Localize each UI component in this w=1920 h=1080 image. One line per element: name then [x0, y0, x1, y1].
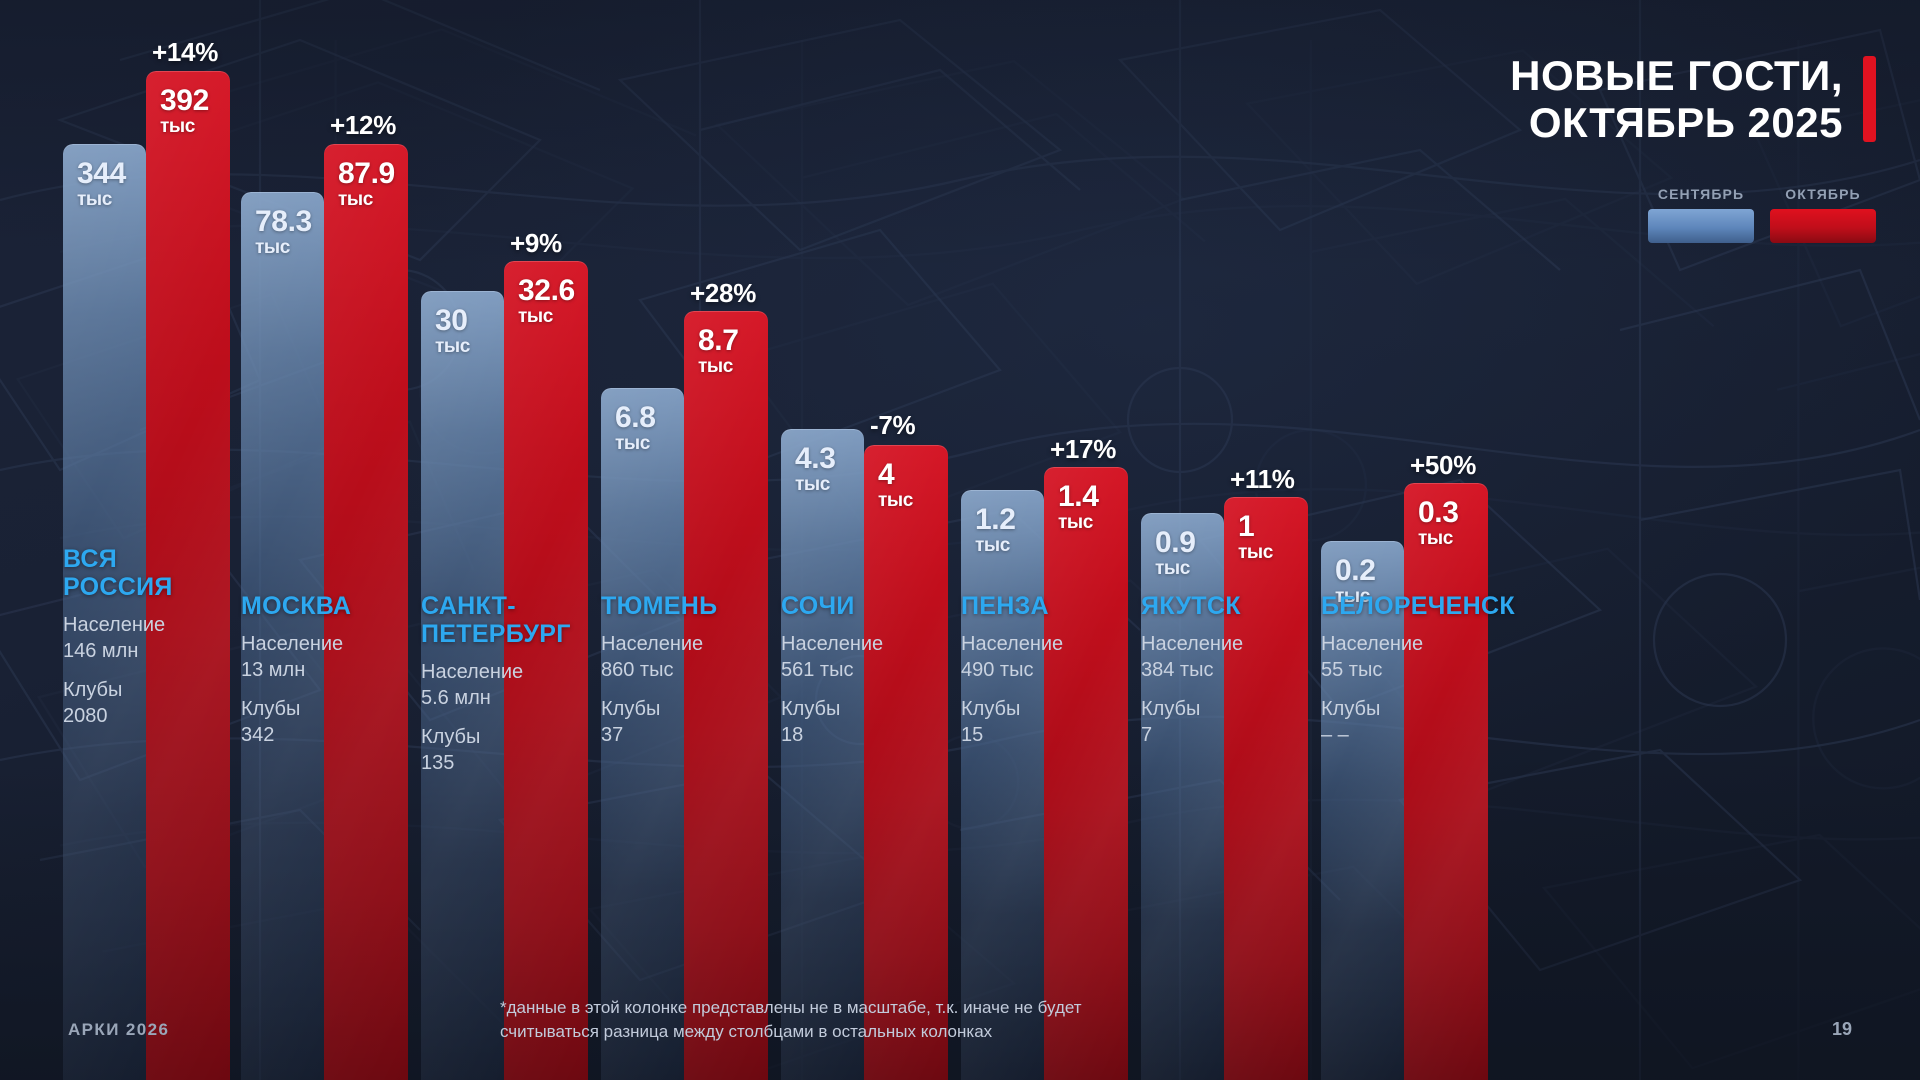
bar-number: 30: [435, 305, 504, 336]
bar-unit: тыс: [338, 190, 408, 210]
column-info-4: СОЧИНаселение 561 тысКлубы 18: [781, 592, 883, 748]
delta-label-4: -7%: [870, 410, 915, 441]
city-label-3: ТЮМЕНЬ: [601, 592, 717, 620]
header: НОВЫЕ ГОСТИ, ОКТЯБРЬ 2025 СЕНТЯБРЬ ОКТЯБ…: [1510, 52, 1876, 243]
delta-label-1: +12%: [330, 110, 396, 141]
bar-unit: тыс: [435, 337, 504, 357]
bar-number: 4.3: [795, 443, 864, 474]
population-info-7: Население 55 тыс: [1321, 632, 1515, 683]
bar-value-october-0: 392тыс: [146, 85, 230, 137]
population-info-1: Население 13 млн: [241, 632, 351, 683]
population-info-2: Население 5.6 млн: [421, 660, 571, 711]
bar-fill: [1044, 467, 1128, 1080]
bar-value-october-2: 32.6тыс: [504, 275, 588, 327]
bar-number: 32.6: [518, 275, 588, 306]
bar-unit: тыс: [1418, 529, 1488, 549]
clubs-info-1: Клубы 342: [241, 697, 351, 748]
bar-value-september-0: 344тыс: [63, 158, 146, 210]
bar-value-september-3: 6.8тыс: [601, 402, 684, 454]
bar-unit: тыс: [77, 190, 146, 210]
bar-number: 0.9: [1155, 527, 1224, 558]
population-info-6: Население 384 тыс: [1141, 632, 1243, 683]
bar-unit: тыс: [878, 491, 948, 511]
column-info-2: САНКТ- ПЕТЕРБУРГНаселение 5.6 млнКлубы 1…: [421, 592, 571, 776]
page-number: 19: [1832, 1019, 1852, 1040]
bar-october-5: 1.4тыс: [1044, 467, 1128, 1080]
bar-number: 344: [77, 158, 146, 189]
population-info-5: Население 490 тыс: [961, 632, 1063, 683]
bar-value-october-5: 1.4тыс: [1044, 481, 1128, 533]
column-info-1: МОСКВАНаселение 13 млнКлубы 342: [241, 592, 351, 748]
bar-value-october-3: 8.7тыс: [684, 325, 768, 377]
title-accent-bar: [1863, 56, 1876, 142]
clubs-info-0: Клубы 2080: [63, 678, 173, 729]
bar-september-4: 4.3тыс: [781, 429, 864, 1080]
page-title: НОВЫЕ ГОСТИ, ОКТЯБРЬ 2025: [1510, 52, 1843, 146]
legend-item-october: ОКТЯБРЬ: [1770, 186, 1876, 243]
bar-number: 4: [878, 459, 948, 490]
column-info-3: ТЮМЕНЬНаселение 860 тысКлубы 37: [601, 592, 717, 748]
clubs-info-5: Клубы 15: [961, 697, 1063, 748]
delta-label-0: +14%: [152, 37, 218, 68]
bar-unit: тыс: [1238, 543, 1308, 563]
bar-value-september-1: 78.3тыс: [241, 206, 324, 258]
clubs-info-2: Клубы 135: [421, 725, 571, 776]
delta-label-5: +17%: [1050, 434, 1116, 465]
bar-number: 1.2: [975, 504, 1044, 535]
legend-swatch-september: [1648, 209, 1754, 243]
bar-number: 1.4: [1058, 481, 1128, 512]
bar-value-october-4: 4тыс: [864, 459, 948, 511]
delta-label-7: +50%: [1410, 450, 1476, 481]
bar-value-october-1: 87.9тыс: [324, 158, 408, 210]
city-label-4: СОЧИ: [781, 592, 883, 620]
bar-number: 0.2: [1335, 555, 1404, 586]
bar-value-october-6: 1тыс: [1224, 511, 1308, 563]
bar-value-september-6: 0.9тыс: [1141, 527, 1224, 579]
bar-september-5: 1.2тыс: [961, 490, 1044, 1080]
legend-label-september: СЕНТЯБРЬ: [1648, 186, 1754, 202]
column-info-7: БЕЛОРЕЧЕНСКНаселение 55 тысКлубы – –: [1321, 592, 1515, 748]
bar-number: 0.3: [1418, 497, 1488, 528]
city-label-0: ВСЯ РОССИЯ: [63, 545, 173, 601]
population-info-3: Население 860 тыс: [601, 632, 717, 683]
legend-item-september: СЕНТЯБРЬ: [1648, 186, 1754, 243]
clubs-info-6: Клубы 7: [1141, 697, 1243, 748]
city-label-5: ПЕНЗА: [961, 592, 1063, 620]
bar-fill: [864, 445, 948, 1080]
legend-label-october: ОКТЯБРЬ: [1770, 186, 1876, 202]
bar-value-september-4: 4.3тыс: [781, 443, 864, 495]
bar-value-september-2: 30тыс: [421, 305, 504, 357]
column-info-0: ВСЯ РОССИЯНаселение 146 млнКлубы 2080: [63, 545, 173, 729]
city-label-6: ЯКУТСК: [1141, 592, 1243, 620]
population-info-0: Население 146 млн: [63, 613, 173, 664]
bar-unit: тыс: [975, 536, 1044, 556]
clubs-info-4: Клубы 18: [781, 697, 883, 748]
bar-value-october-7: 0.3тыс: [1404, 497, 1488, 549]
bar-number: 6.8: [615, 402, 684, 433]
bar-unit: тыс: [615, 434, 684, 454]
bar-fill: [961, 490, 1044, 1080]
bar-fill: [1404, 483, 1488, 1080]
bar-unit: тыс: [160, 117, 230, 137]
bar-unit: тыс: [1155, 559, 1224, 579]
delta-label-3: +28%: [690, 278, 756, 309]
bar-value-september-5: 1.2тыс: [961, 504, 1044, 556]
bar-unit: тыс: [698, 357, 768, 377]
chart-legend: СЕНТЯБРЬ ОКТЯБРЬ: [1510, 186, 1876, 243]
bar-unit: тыс: [1058, 513, 1128, 533]
column-info-5: ПЕНЗАНаселение 490 тысКлубы 15: [961, 592, 1063, 748]
city-label-2: САНКТ- ПЕТЕРБУРГ: [421, 592, 571, 648]
city-label-7: БЕЛОРЕЧЕНСК: [1321, 592, 1515, 620]
delta-label-6: +11%: [1230, 464, 1295, 495]
bar-number: 1: [1238, 511, 1308, 542]
bar-unit: тыс: [795, 475, 864, 495]
bar-october-7: 0.3тыс: [1404, 483, 1488, 1080]
delta-label-2: +9%: [510, 228, 562, 259]
legend-swatch-october: [1770, 209, 1876, 243]
city-label-1: МОСКВА: [241, 592, 351, 620]
bar-fill: [781, 429, 864, 1080]
bar-october-6: 1тыс: [1224, 497, 1308, 1080]
bar-number: 87.9: [338, 158, 408, 189]
bar-number: 78.3: [255, 206, 324, 237]
bar-number: 8.7: [698, 325, 768, 356]
column-info-6: ЯКУТСКНаселение 384 тысКлубы 7: [1141, 592, 1243, 748]
brand-label: АРКИ 2026: [68, 1020, 169, 1040]
chart-footnote: *данные в этой колонке представлены не в…: [500, 996, 1082, 1044]
bar-unit: тыс: [255, 238, 324, 258]
population-info-4: Население 561 тыс: [781, 632, 883, 683]
bar-fill: [1224, 497, 1308, 1080]
clubs-info-3: Клубы 37: [601, 697, 717, 748]
bar-unit: тыс: [518, 307, 588, 327]
clubs-info-7: Клубы – –: [1321, 697, 1515, 748]
bar-number: 392: [160, 85, 230, 116]
bar-october-4: 4тыс: [864, 445, 948, 1080]
